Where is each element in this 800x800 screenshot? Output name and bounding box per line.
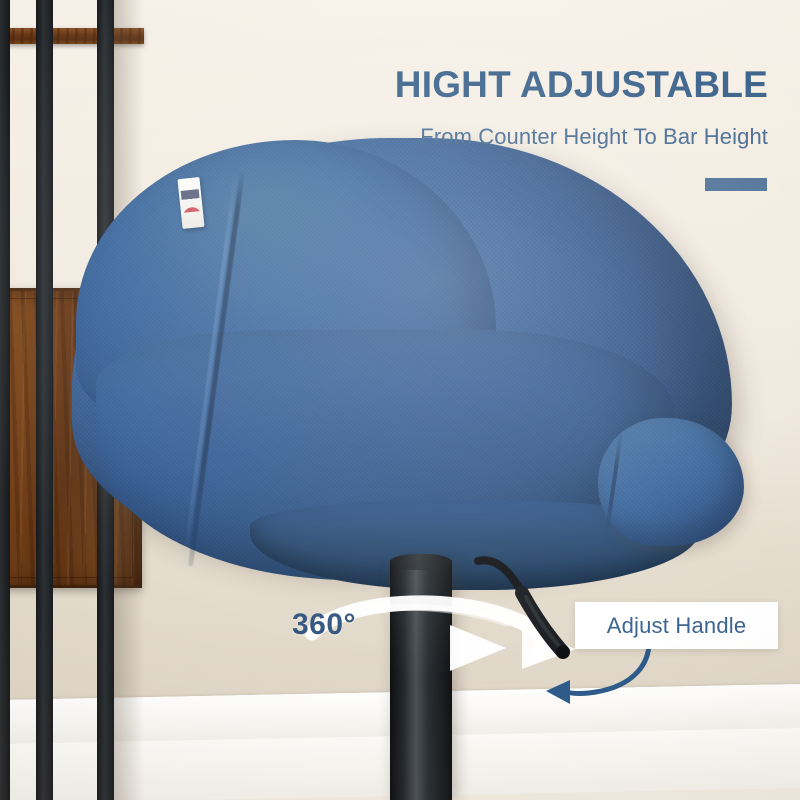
scene-vignette [0,0,800,800]
product-marketing-image: 360° Adjust Handle HIGHT ADJUSTABLE From… [0,0,800,800]
